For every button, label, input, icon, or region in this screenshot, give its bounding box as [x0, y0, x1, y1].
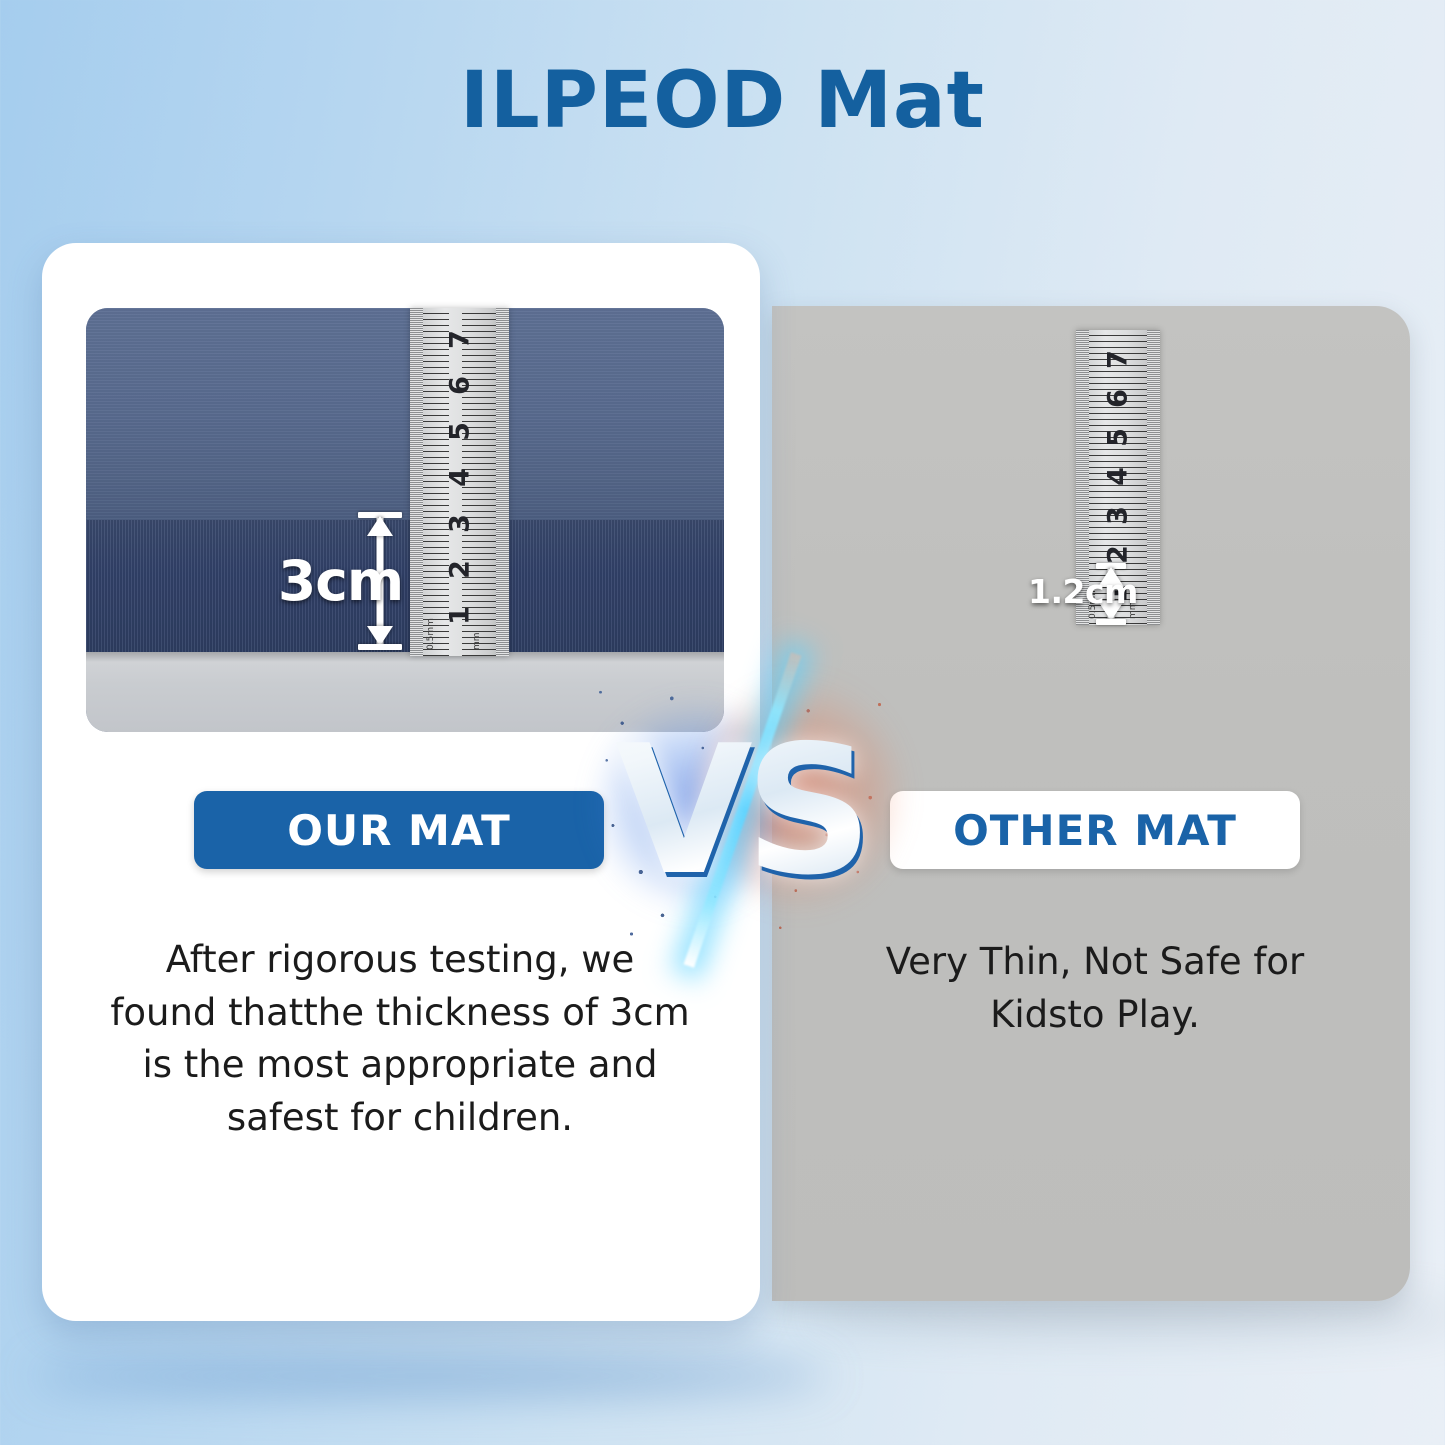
measure-cap-bottom — [358, 644, 402, 650]
ruler-number: 1 — [444, 606, 475, 625]
our-mat-badge-label: OUR MAT — [287, 806, 510, 855]
ruler-number: 3 — [1103, 506, 1134, 525]
ruler-number: 4 — [444, 468, 475, 487]
our-mat-description: After rigorous testing, we found thatthe… — [110, 934, 690, 1144]
ruler-number: 3 — [444, 514, 475, 533]
ruler-unit-label: mm — [472, 632, 482, 650]
ruler-knurl-right — [1147, 330, 1160, 625]
other-mat-badge[interactable]: OTHER MAT — [890, 791, 1300, 869]
our-mat-badge[interactable]: OUR MAT — [194, 791, 604, 869]
ruler-knurl-right — [496, 308, 509, 656]
our-mat-ruler: 7 6 5 4 3 2 1 0.5mm mm — [410, 308, 509, 656]
right-panel-ground-shadow — [805, 1300, 1445, 1330]
measure-cap-bottom — [1096, 619, 1126, 625]
our-mat-thickness-band — [86, 520, 724, 652]
our-mat-measurement-label: 3cm — [278, 549, 403, 613]
ruler-number: 2 — [444, 560, 475, 579]
left-card-ground-shadow — [30, 1358, 830, 1394]
ruler-number: 5 — [444, 422, 475, 441]
other-mat-measurement-label: 1.2cm — [1028, 572, 1138, 611]
our-mat-surface-layer — [86, 308, 724, 526]
other-mat-description: Very Thin, Not Safe for Kidsto Play. — [840, 936, 1350, 1041]
measure-arrowhead-down — [367, 626, 393, 646]
ruler-number: 2 — [1103, 545, 1134, 564]
our-mat-photo — [86, 308, 724, 732]
measure-arrowhead-up — [367, 516, 393, 536]
other-mat-badge-label: OTHER MAT — [953, 806, 1237, 855]
ruler-knurl-left — [410, 308, 423, 656]
ruler-number: 6 — [444, 376, 475, 395]
our-mat-floor — [86, 652, 724, 732]
page-title: ILPEOD Mat — [0, 62, 1445, 140]
ruler-number: 7 — [1103, 350, 1134, 369]
ruler-number: 5 — [1103, 428, 1134, 447]
ruler-fine-label: 0.5mm — [426, 618, 436, 650]
ruler-number: 6 — [1103, 389, 1134, 408]
ruler-number: 4 — [1103, 467, 1134, 486]
ruler-number: 7 — [444, 330, 475, 349]
